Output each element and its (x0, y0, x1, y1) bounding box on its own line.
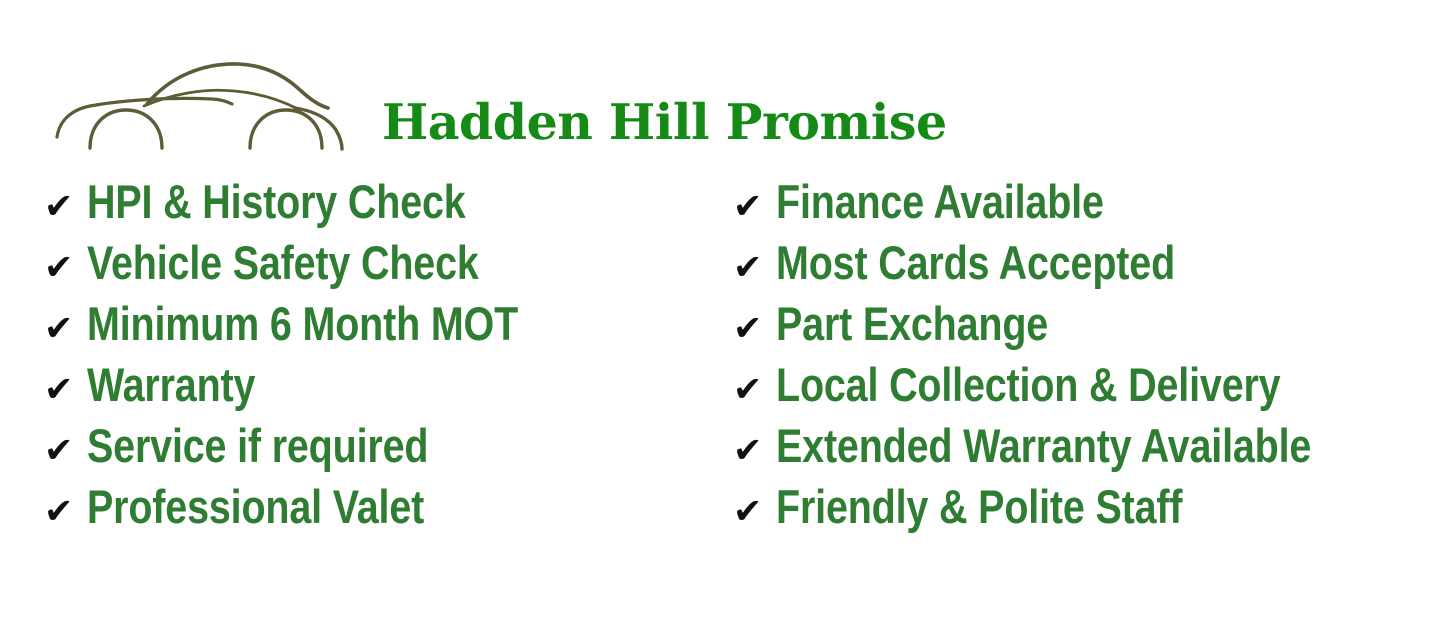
check-icon: ✔ (44, 495, 87, 530)
promise-label: Finance Available (776, 178, 1104, 225)
promise-label: Minimum 6 Month MOT (87, 300, 518, 347)
page-title: Hadden Hill Promise (382, 98, 947, 147)
check-icon: ✔ (44, 312, 87, 347)
promise-label: Most Cards Accepted (776, 239, 1175, 286)
list-item: ✔ Service if required (44, 422, 600, 483)
promise-label: Part Exchange (776, 300, 1048, 347)
check-icon: ✔ (44, 190, 87, 225)
check-icon: ✔ (733, 434, 776, 469)
promise-label: Friendly & Polite Staff (776, 483, 1182, 530)
list-item: ✔ Professional Valet (44, 483, 600, 544)
promise-column-right: ✔ Finance Available ✔ Most Cards Accepte… (733, 178, 1413, 544)
promise-columns: ✔ HPI & History Check ✔ Vehicle Safety C… (0, 178, 1440, 548)
check-icon: ✔ (733, 312, 776, 347)
banner-header: Hadden Hill Promise (0, 0, 1440, 178)
list-item: ✔ Vehicle Safety Check (44, 239, 600, 300)
car-silhouette-icon (52, 52, 362, 152)
promise-label: Extended Warranty Available (776, 422, 1311, 469)
promise-list-right: ✔ Finance Available ✔ Most Cards Accepte… (733, 178, 1413, 544)
list-item: ✔ HPI & History Check (44, 178, 600, 239)
check-icon: ✔ (44, 251, 87, 286)
promise-label: HPI & History Check (87, 178, 466, 225)
list-item: ✔ Warranty (44, 361, 600, 422)
promise-label: Vehicle Safety Check (87, 239, 479, 286)
promise-label: Professional Valet (87, 483, 424, 530)
check-icon: ✔ (733, 190, 776, 225)
list-item: ✔ Local Collection & Delivery (733, 361, 1413, 422)
check-icon: ✔ (733, 251, 776, 286)
promise-label: Warranty (87, 361, 255, 408)
check-icon: ✔ (44, 373, 87, 408)
hadden-hill-promise-banner: Hadden Hill Promise ✔ HPI & History Chec… (0, 0, 1440, 638)
list-item: ✔ Finance Available (733, 178, 1413, 239)
promise-label: Local Collection & Delivery (776, 361, 1280, 408)
list-item: ✔ Most Cards Accepted (733, 239, 1413, 300)
list-item: ✔ Extended Warranty Available (733, 422, 1413, 483)
check-icon: ✔ (733, 373, 776, 408)
promise-list-left: ✔ HPI & History Check ✔ Vehicle Safety C… (44, 178, 600, 544)
promise-label: Service if required (87, 422, 428, 469)
check-icon: ✔ (44, 434, 87, 469)
promise-column-left: ✔ HPI & History Check ✔ Vehicle Safety C… (44, 178, 600, 544)
list-item: ✔ Friendly & Polite Staff (733, 483, 1413, 544)
list-item: ✔ Minimum 6 Month MOT (44, 300, 600, 361)
check-icon: ✔ (733, 495, 776, 530)
list-item: ✔ Part Exchange (733, 300, 1413, 361)
